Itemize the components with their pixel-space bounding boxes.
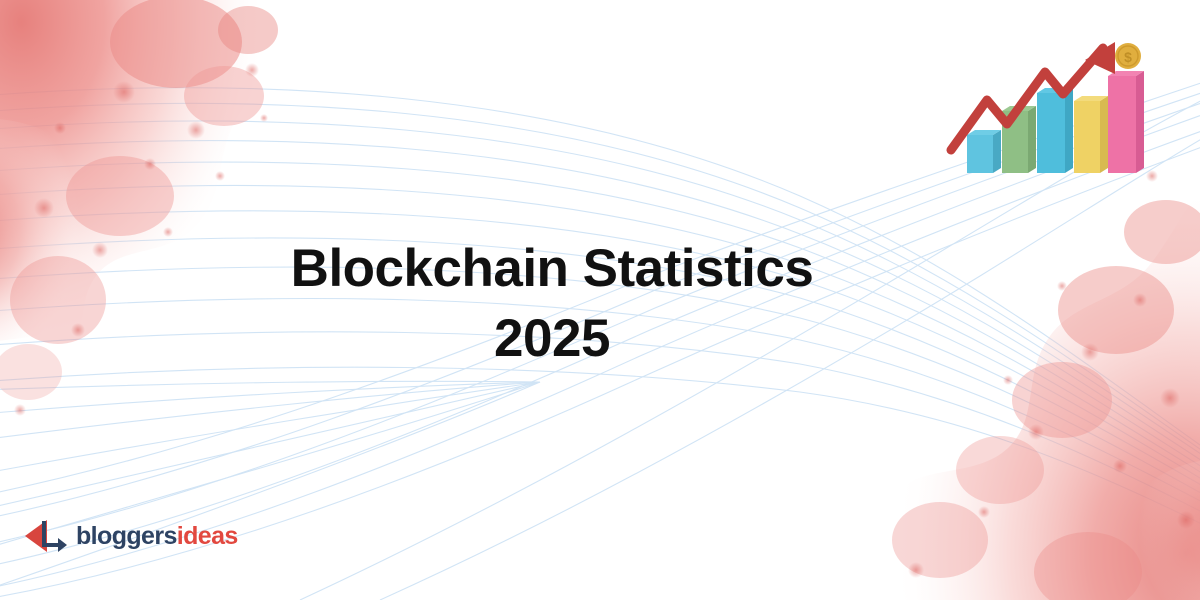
logo-text-bloggers: bloggers [76, 522, 177, 550]
title-line-2: 2025 [0, 304, 1104, 374]
chart-bar-4 [1074, 96, 1108, 173]
page-title: Blockchain Statistics 2025 [0, 234, 1104, 374]
chart-bar-5 [1108, 71, 1144, 173]
chart-bar-3 [1037, 88, 1073, 173]
svg-text:$: $ [1124, 49, 1132, 65]
title-line-1: Blockchain Statistics [0, 234, 1104, 304]
chart-bar-2 [1002, 106, 1036, 173]
growth-chart-icon: $ [945, 38, 1150, 173]
chart-bar-1 [967, 130, 1001, 173]
banner-root: $ Blockchain Statistics 2025 bloggerside… [0, 0, 1200, 600]
logo-text-ideas: ideas [177, 522, 238, 550]
bloggersideas-logo-mark [22, 514, 70, 558]
logo-wordmark: bloggersideas [76, 522, 238, 551]
bloggersideas-logo[interactable]: bloggersideas [22, 511, 238, 561]
coin-icon: $ [1115, 43, 1141, 69]
